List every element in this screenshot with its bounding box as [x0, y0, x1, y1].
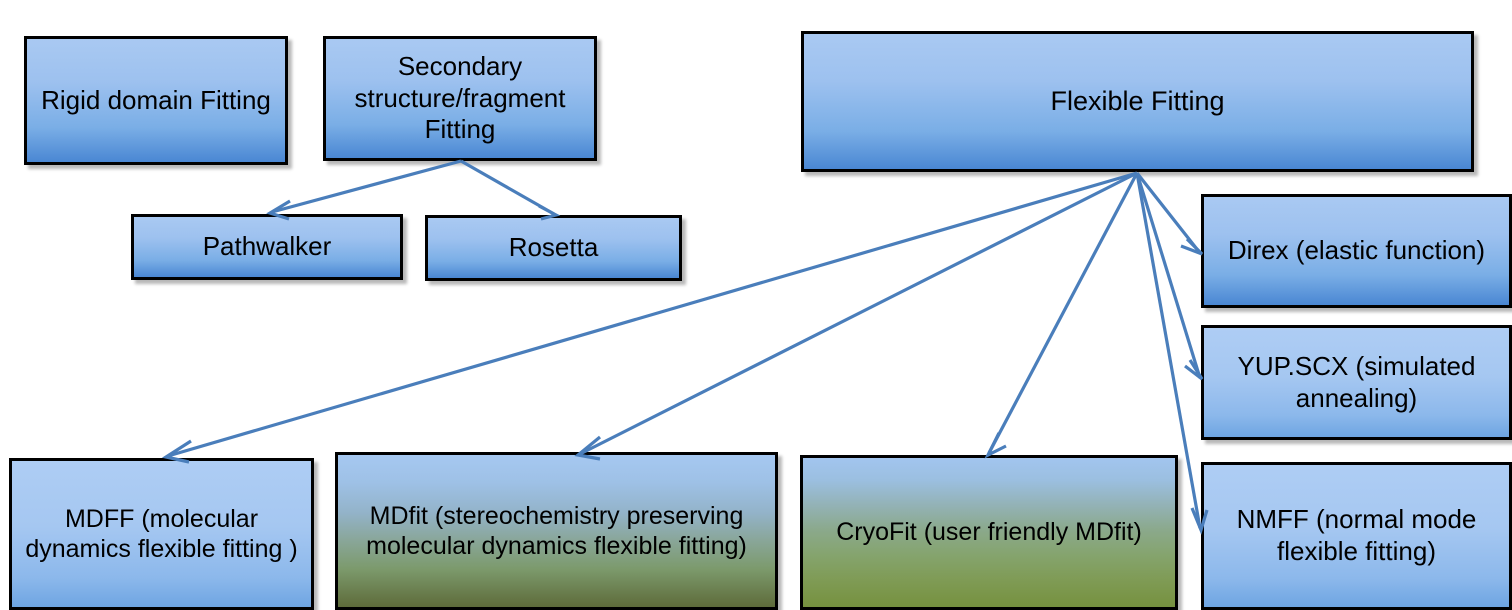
edge-secondary-to-rosetta: [461, 161, 556, 219]
edge-flexible-to-direx: [1137, 173, 1202, 254]
node-direx[interactable]: Direx (elastic function): [1201, 194, 1512, 308]
node-label: Secondary structure/fragment Fitting: [332, 51, 588, 146]
diagram-canvas: Rigid domain Fitting Secondary structure…: [0, 0, 1512, 610]
node-label: Rigid domain Fitting: [41, 85, 271, 117]
node-label: CryoFit (user friendly MDfit): [836, 517, 1142, 548]
node-rosetta[interactable]: Rosetta: [425, 215, 682, 281]
node-pathwalker[interactable]: Pathwalker: [131, 214, 403, 280]
edge-flexible-to-cryofit: [988, 173, 1137, 455]
node-label: Direx (elastic function): [1228, 235, 1485, 267]
edge-secondary-to-pathwalker: [270, 161, 461, 219]
node-cryofit[interactable]: CryoFit (user friendly MDfit): [800, 455, 1178, 610]
node-yup-scx[interactable]: YUP.SCX (simulated annealing): [1201, 325, 1512, 440]
node-label: YUP.SCX (simulated annealing): [1210, 351, 1503, 414]
node-label: MDfit (stereochemistry preserving molecu…: [344, 501, 769, 562]
edge-flexible-to-yupscx: [1137, 173, 1202, 379]
node-nmff[interactable]: NMFF (normal mode flexible fitting): [1201, 462, 1512, 610]
node-mdff[interactable]: MDFF (molecular dynamics flexible fittin…: [9, 458, 314, 610]
node-label: MDFF (molecular dynamics flexible fittin…: [18, 504, 305, 565]
node-secondary-structure-fragment-fitting[interactable]: Secondary structure/fragment Fitting: [323, 36, 597, 161]
node-flexible-fitting[interactable]: Flexible Fitting: [801, 31, 1474, 172]
node-label: NMFF (normal mode flexible fitting): [1210, 504, 1503, 567]
node-mdfit[interactable]: MDfit (stereochemistry preserving molecu…: [335, 452, 778, 610]
node-rigid-domain-fitting[interactable]: Rigid domain Fitting: [24, 36, 288, 165]
node-label: Rosetta: [509, 232, 599, 264]
node-label: Flexible Fitting: [1050, 85, 1224, 118]
node-label: Pathwalker: [203, 231, 332, 263]
